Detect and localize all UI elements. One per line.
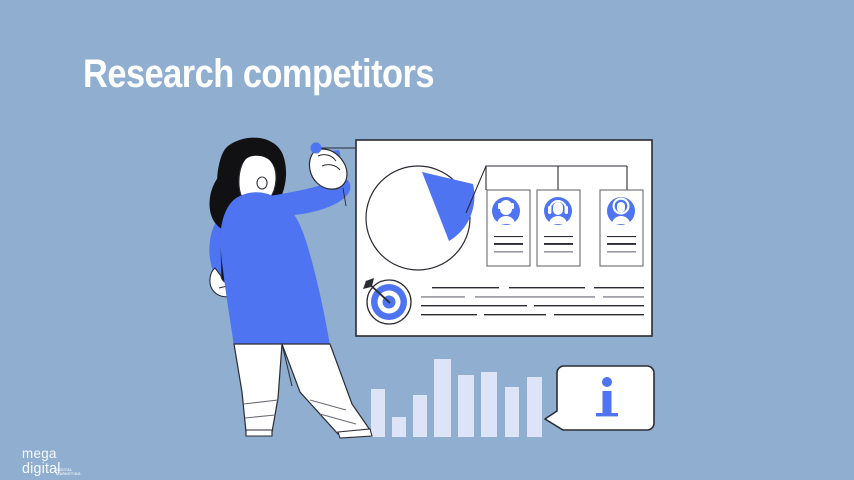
- bar: [371, 389, 385, 437]
- avatar-person-headphones: [544, 197, 572, 225]
- bar: [434, 359, 451, 437]
- card-line: [494, 236, 523, 237]
- card-line: [544, 251, 573, 253]
- person-card[interactable]: [600, 190, 643, 266]
- illustration: [0, 0, 854, 480]
- avatar-person-curly-hair: [607, 197, 635, 225]
- info-tooltip[interactable]: [545, 366, 654, 430]
- info-icon-stem: [603, 391, 612, 415]
- logo-line-mega: mega: [22, 446, 90, 460]
- card-line: [607, 243, 636, 245]
- ear: [257, 177, 267, 189]
- card-line: [494, 243, 523, 245]
- brand-logo[interactable]: mega digital DIGITAL MARKETING: [22, 446, 94, 476]
- card-line: [544, 243, 573, 245]
- info-icon-dot: [602, 377, 612, 387]
- person-card[interactable]: [487, 190, 530, 266]
- blue-marker: [311, 143, 322, 154]
- trouser-right: [282, 344, 370, 434]
- slide-canvas: Research competitors: [0, 0, 854, 480]
- woman-presenting: [209, 138, 372, 438]
- person-card[interactable]: [537, 190, 580, 266]
- bar: [392, 417, 406, 437]
- card-line: [607, 251, 636, 253]
- bar: [527, 377, 542, 437]
- card-line: [607, 236, 636, 237]
- bar: [458, 375, 474, 437]
- info-icon-base: [596, 413, 618, 416]
- shoe-left: [246, 430, 272, 436]
- trouser-left: [234, 344, 282, 432]
- logo-tagline: DIGITAL MARKETING: [56, 468, 94, 476]
- bar: [481, 372, 497, 437]
- bar-chart: [371, 359, 542, 437]
- bar: [413, 395, 427, 437]
- card-line: [494, 251, 523, 253]
- card-line: [544, 236, 573, 237]
- avatar-person-short-hair: [492, 197, 520, 225]
- bar: [505, 387, 519, 437]
- jacket-torso: [220, 192, 330, 346]
